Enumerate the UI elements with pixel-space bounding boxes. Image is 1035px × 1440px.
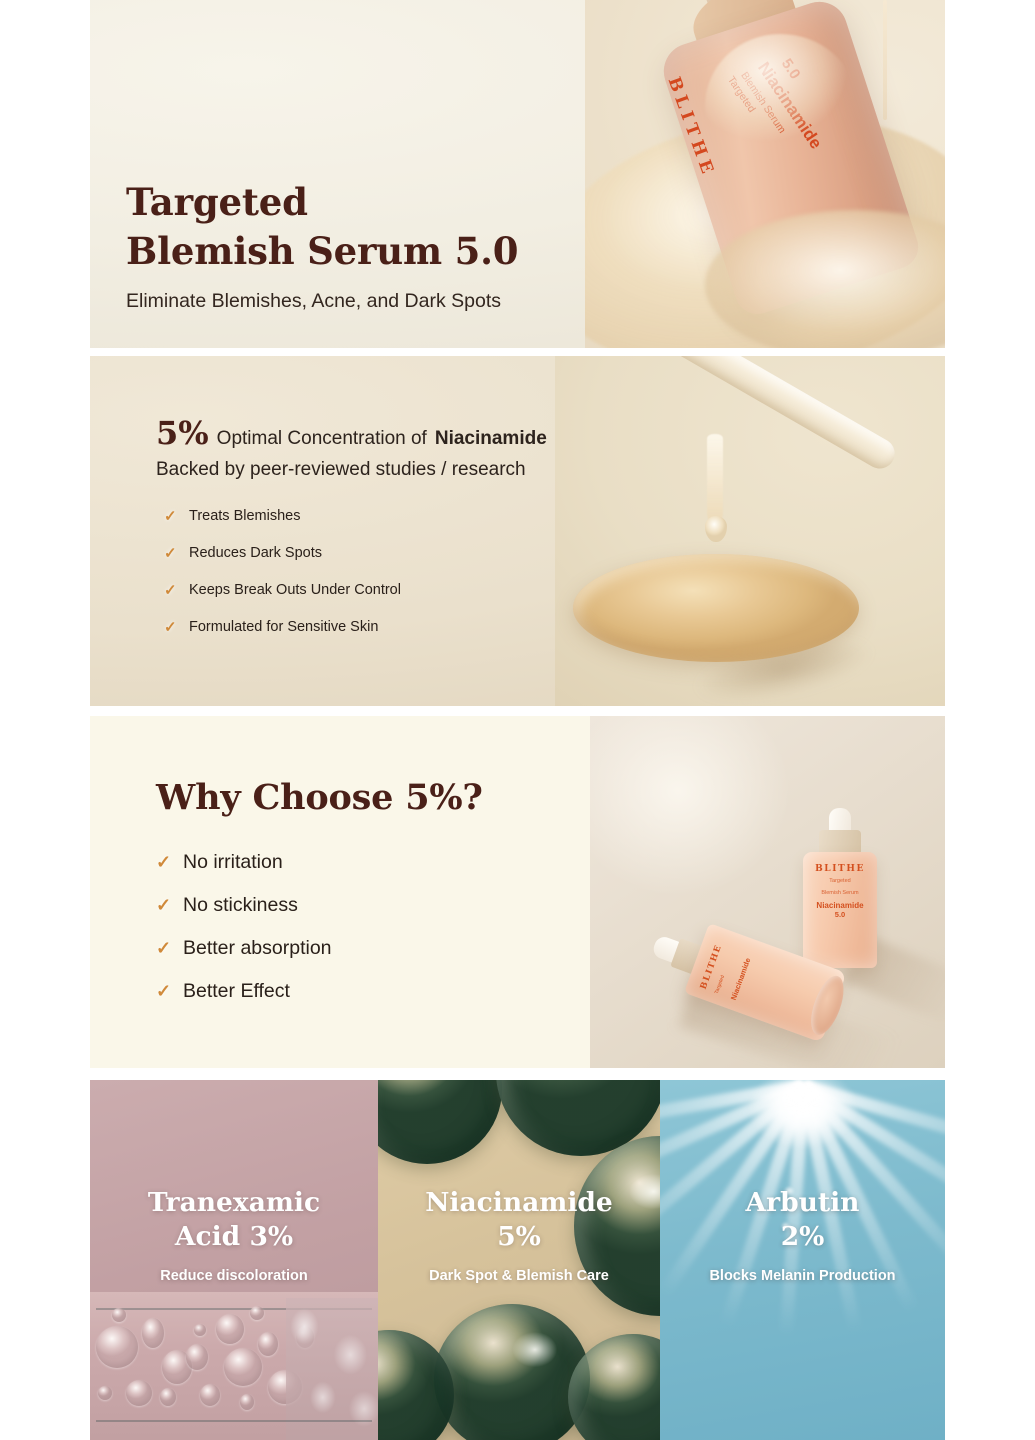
concentration-percent: 5% <box>156 414 209 452</box>
ingredient-description: Blocks Melanin Production <box>660 1268 945 1284</box>
ingredient-card-arbutin: Arbutin 2% Blocks Melanin Production <box>660 1080 945 1440</box>
check-icon: ✓ <box>164 507 176 525</box>
bubble <box>250 1306 264 1320</box>
why-choose-title: Why Choose 5%? <box>156 778 483 818</box>
bubble <box>200 1384 220 1406</box>
bottle-product-line2: Blemish Serum <box>803 890 877 898</box>
benefit-label: Keeps Break Outs Under Control <box>189 582 401 598</box>
ingredient-name-line2: 5% <box>378 1220 660 1254</box>
list-item: ✓ No stickiness <box>156 894 332 917</box>
ingredient-copy: Niacinamide 5% Dark Spot & Blemish Care <box>378 1186 660 1284</box>
ingredient-name-line2: 2% <box>660 1220 945 1254</box>
ingredient-card-tranexamic-acid: Tranexamic Acid 3% Reduce discoloration <box>90 1080 378 1440</box>
concentration-subtitle: Backed by peer-reviewed studies / resear… <box>156 459 547 481</box>
bubble-cluster <box>286 1298 378 1440</box>
bubble <box>216 1314 244 1344</box>
bubble <box>142 1318 164 1348</box>
bubble <box>224 1348 262 1386</box>
hero-title-line1: Targeted <box>126 178 518 226</box>
bubble <box>98 1386 112 1400</box>
serum-drip-stream <box>707 434 723 526</box>
benefit-list: ✓ Treats Blemishes ✓ Reduces Dark Spots … <box>164 507 547 636</box>
bubble <box>96 1326 138 1368</box>
benefit-label: Reduces Dark Spots <box>189 545 322 561</box>
reason-label: Better absorption <box>183 937 332 960</box>
ingredient-name-line1: Arbutin <box>660 1186 945 1220</box>
bottle-label: BLITHE Targeted Blemish Serum Niacinamid… <box>803 864 877 919</box>
bubble <box>126 1380 152 1406</box>
bubble <box>240 1394 254 1410</box>
hero-subtitle: Eliminate Blemishes, Acne, and Dark Spot… <box>126 290 518 313</box>
bubble <box>258 1332 278 1356</box>
benefit-label: Treats Blemishes <box>189 508 300 524</box>
ingredient-description: Reduce discoloration <box>90 1268 378 1284</box>
check-icon: ✓ <box>164 581 176 599</box>
ingredient-name-line2: Acid 3% <box>90 1220 378 1254</box>
check-icon: ✓ <box>156 938 170 959</box>
bottle-product-line1: Targeted <box>714 974 727 995</box>
serum-puddle <box>573 554 859 662</box>
hero-title-line2: Blemish Serum 5.0 <box>126 226 518 276</box>
ingredient-name-line1: Niacinamide <box>378 1186 660 1220</box>
ingredient-name-line1: Tranexamic <box>90 1186 378 1220</box>
bottle-product-line1: Targeted <box>803 878 877 886</box>
check-icon: ✓ <box>164 544 176 562</box>
reason-list: ✓ No irritation ✓ No stickiness ✓ Better… <box>156 851 332 1023</box>
ingredient-copy: Tranexamic Acid 3% Reduce discoloration <box>90 1186 378 1284</box>
check-icon: ✓ <box>164 618 176 636</box>
dropper-photo <box>555 356 945 706</box>
bottle-brand-text: BLITHE <box>803 864 877 874</box>
reason-label: No irritation <box>183 851 283 874</box>
bottle-version-text: 5.0 <box>803 910 877 919</box>
hero-copy: Targeted Blemish Serum 5.0 Eliminate Ble… <box>126 178 518 313</box>
bubble <box>160 1388 176 1406</box>
serum-drip-strand <box>883 0 887 120</box>
ingredient-copy: Arbutin 2% Blocks Melanin Production <box>660 1186 945 1284</box>
serum-bottle-upright: BLITHE Targeted Blemish Serum Niacinamid… <box>803 808 877 968</box>
check-icon: ✓ <box>156 981 170 1002</box>
bubble-tube-graphic <box>90 1292 378 1440</box>
product-infographic: BLITHE Targeted Blemish Serum Niacinamid… <box>0 0 1035 1440</box>
list-item: ✓ Keeps Break Outs Under Control <box>164 581 547 599</box>
two-bottles-photo: BLITHE Targeted Blemish Serum Niacinamid… <box>590 716 945 1068</box>
bottle-ingredient-text: Niacinamide <box>729 957 753 1002</box>
list-item: ✓ Better absorption <box>156 937 332 960</box>
bubble <box>186 1344 208 1370</box>
concentration-copy: 5% Optimal Concentration of Niacinamide … <box>156 414 547 655</box>
concentration-headline: 5% Optimal Concentration of Niacinamide <box>156 414 547 452</box>
gel-highlight <box>506 1330 570 1386</box>
check-icon: ✓ <box>156 895 170 916</box>
reason-label: No stickiness <box>183 894 298 917</box>
ingredient-card-niacinamide: Niacinamide 5% Dark Spot & Blemish Care <box>378 1080 660 1440</box>
bubble <box>194 1324 206 1336</box>
list-item: ✓ Formulated for Sensitive Skin <box>164 618 547 636</box>
check-icon: ✓ <box>156 852 170 873</box>
why-choose-copy-area: Why Choose 5%? ✓ No irritation ✓ No stic… <box>90 716 590 1068</box>
reason-label: Better Effect <box>183 980 290 1003</box>
list-item: ✓ Reduces Dark Spots <box>164 544 547 562</box>
bubble <box>112 1308 126 1322</box>
benefit-label: Formulated for Sensitive Skin <box>189 619 378 635</box>
ingredients-panel: Tranexamic Acid 3% Reduce discoloration … <box>90 1080 945 1440</box>
list-item: ✓ No irritation <box>156 851 332 874</box>
concentration-headline-mid: Optimal Concentration of <box>217 428 427 450</box>
concentration-headline-bold: Niacinamide <box>435 428 547 450</box>
why-choose-panel: Why Choose 5%? ✓ No irritation ✓ No stic… <box>90 716 945 1068</box>
list-item: ✓ Treats Blemishes <box>164 507 547 525</box>
hero-panel: BLITHE Targeted Blemish Serum Niacinamid… <box>90 0 945 348</box>
hero-product-photo: BLITHE Targeted Blemish Serum Niacinamid… <box>585 0 945 348</box>
ingredient-description: Dark Spot & Blemish Care <box>378 1268 660 1284</box>
bottle-ingredient-text: Niacinamide <box>803 901 877 910</box>
list-item: ✓ Better Effect <box>156 980 332 1003</box>
concentration-panel: 5% Optimal Concentration of Niacinamide … <box>90 356 945 706</box>
